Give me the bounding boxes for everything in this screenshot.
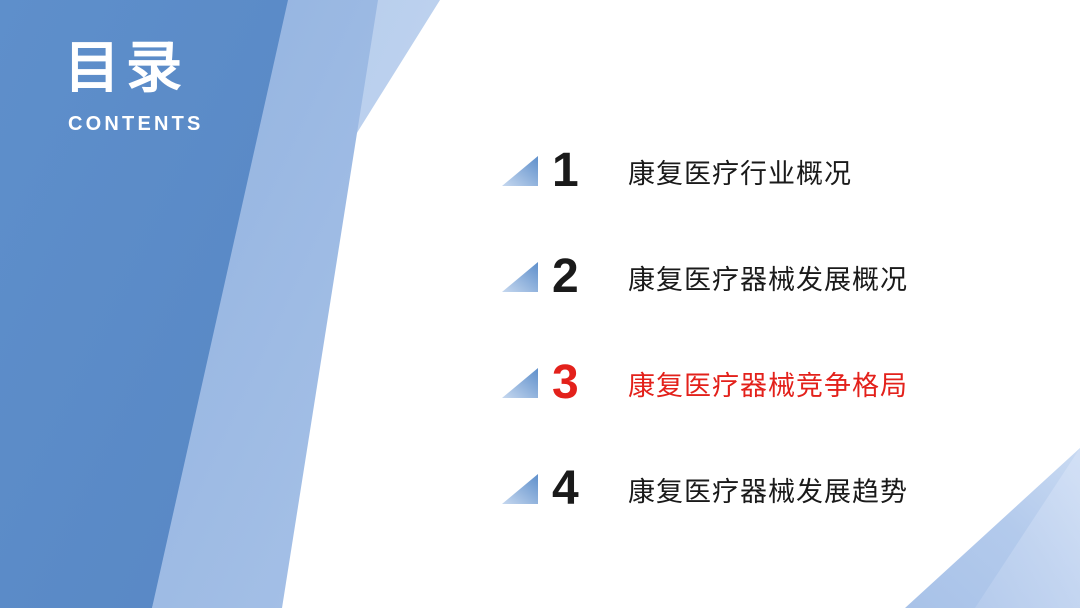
- page-title: 目录: [64, 40, 304, 99]
- triangle-bullet-icon: [500, 260, 540, 294]
- page-subtitle: CONTENTS: [68, 113, 304, 136]
- triangle-bullet-icon: [500, 472, 540, 506]
- toc-number: 1: [552, 147, 628, 195]
- toc-item-2[interactable]: 2 康复医疗器械发展概况: [500, 224, 1020, 330]
- toc-item-4[interactable]: 4 康复医疗器械发展趋势: [500, 436, 1020, 542]
- slide-canvas: 目录 CONTENTS 1 康复医疗行业概况: [0, 0, 1080, 608]
- table-of-contents: 1 康复医疗行业概况 2 康复医疗器械发展概况: [500, 118, 1020, 542]
- toc-label: 康复医疗器械发展概况: [628, 258, 908, 297]
- toc-number: 2: [552, 253, 628, 301]
- toc-label: 康复医疗器械竞争格局: [628, 364, 908, 403]
- toc-number: 3: [552, 359, 628, 407]
- toc-label: 康复医疗器械发展趋势: [628, 470, 908, 509]
- title-block: 目录 CONTENTS: [64, 40, 304, 136]
- toc-item-3[interactable]: 3 康复医疗器械竞争格局: [500, 330, 1020, 436]
- triangle-bullet-icon: [500, 154, 540, 188]
- toc-item-1[interactable]: 1 康复医疗行业概况: [500, 118, 1020, 224]
- toc-number: 4: [552, 465, 628, 513]
- triangle-bullet-icon: [500, 366, 540, 400]
- toc-label: 康复医疗行业概况: [628, 152, 852, 191]
